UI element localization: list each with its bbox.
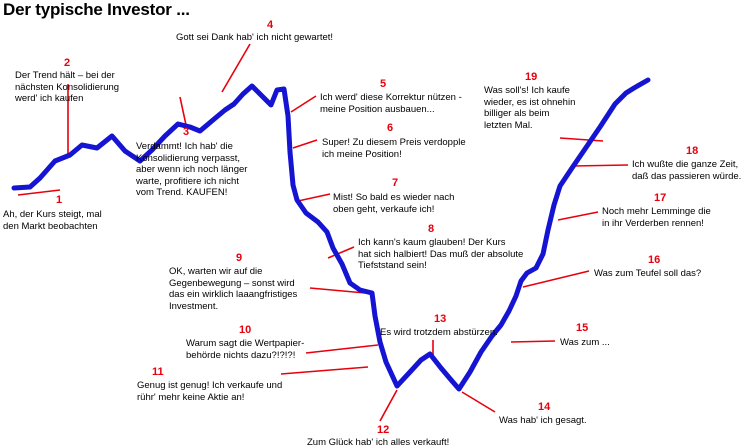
annotation-number-8: 8 xyxy=(428,224,434,235)
leader-line-1 xyxy=(18,190,60,195)
annotation-text-17: Noch mehr Lemminge die in ihr Verderben … xyxy=(602,206,711,229)
leader-line-10 xyxy=(306,345,378,353)
annotation-text-11: Genug ist genug! Ich verkaufe und rühr' … xyxy=(137,380,282,403)
annotation-number-15: 15 xyxy=(576,323,588,334)
annotation-text-10: Warum sagt die Wertpapier- behörde nicht… xyxy=(186,338,304,361)
annotation-number-19: 19 xyxy=(525,72,537,83)
annotation-text-8: Ich kann's kaum glauben! Der Kurs hat si… xyxy=(358,237,523,272)
annotation-number-16: 16 xyxy=(648,255,660,266)
leader-line-7 xyxy=(298,194,330,201)
leader-line-5 xyxy=(291,96,316,112)
annotation-text-5: Ich werd' diese Korrektur nützen - meine… xyxy=(320,92,462,115)
annotation-text-19: Was soll's! Ich kaufe wieder, es ist ohn… xyxy=(484,85,575,131)
annotation-number-11: 11 xyxy=(152,367,164,378)
annotation-text-18: Ich wußte die ganze Zeit, daß das passie… xyxy=(632,159,741,182)
annotation-text-12: Zum Glück hab' ich alles verkauft! xyxy=(307,437,449,448)
annotation-text-1: Ah, der Kurs steigt, mal den Markt beoba… xyxy=(3,209,102,232)
annotation-text-3: Verdammt! Ich hab' die Konsolidierung ve… xyxy=(136,141,247,199)
annotation-text-6: Super! Zu diesem Preis verdopple ich mei… xyxy=(322,137,466,160)
leader-line-11 xyxy=(281,367,368,374)
annotation-number-14: 14 xyxy=(538,402,550,413)
annotation-number-7: 7 xyxy=(392,178,398,189)
annotation-number-10: 10 xyxy=(239,325,251,336)
leader-line-19 xyxy=(560,138,603,141)
annotation-text-16: Was zum Teufel soll das? xyxy=(594,268,701,280)
annotation-text-9: OK, warten wir auf die Gegenbewegung – s… xyxy=(169,266,297,312)
annotation-number-1: 1 xyxy=(56,195,62,206)
leader-line-14 xyxy=(462,392,495,412)
annotation-text-7: Mist! So bald es wieder nach oben geht, … xyxy=(333,192,454,215)
annotation-number-18: 18 xyxy=(686,146,698,157)
annotation-number-12: 12 xyxy=(377,425,389,436)
annotation-number-17: 17 xyxy=(654,193,666,204)
leader-line-16 xyxy=(523,271,589,287)
leader-line-17 xyxy=(558,212,598,220)
leader-line-12 xyxy=(380,390,397,421)
annotation-number-5: 5 xyxy=(380,79,386,90)
annotation-number-6: 6 xyxy=(387,123,393,134)
annotation-number-2: 2 xyxy=(64,58,70,69)
investor-chart-image: Der typische Investor ... 1Ah, der Kurs … xyxy=(0,0,750,448)
leader-line-4 xyxy=(222,44,250,92)
annotation-number-3: 3 xyxy=(183,127,189,138)
leader-line-18 xyxy=(573,165,628,166)
annotation-text-4: Gott sei Dank hab' ich nicht gewartet! xyxy=(176,32,333,44)
annotation-text-14: Was hab' ich gesagt. xyxy=(499,415,587,427)
annotation-number-9: 9 xyxy=(236,253,242,264)
annotation-number-13: 13 xyxy=(434,314,446,325)
annotation-text-2: Der Trend hält – bei der nächsten Konsol… xyxy=(15,70,119,105)
leader-line-3 xyxy=(180,97,186,125)
annotation-text-15: Was zum ... xyxy=(560,337,610,349)
annotation-number-4: 4 xyxy=(267,20,273,31)
annotation-text-13: Es wird trotzdem abstürzen. xyxy=(380,327,498,339)
leader-line-15 xyxy=(511,341,555,342)
leader-line-6 xyxy=(293,140,317,148)
